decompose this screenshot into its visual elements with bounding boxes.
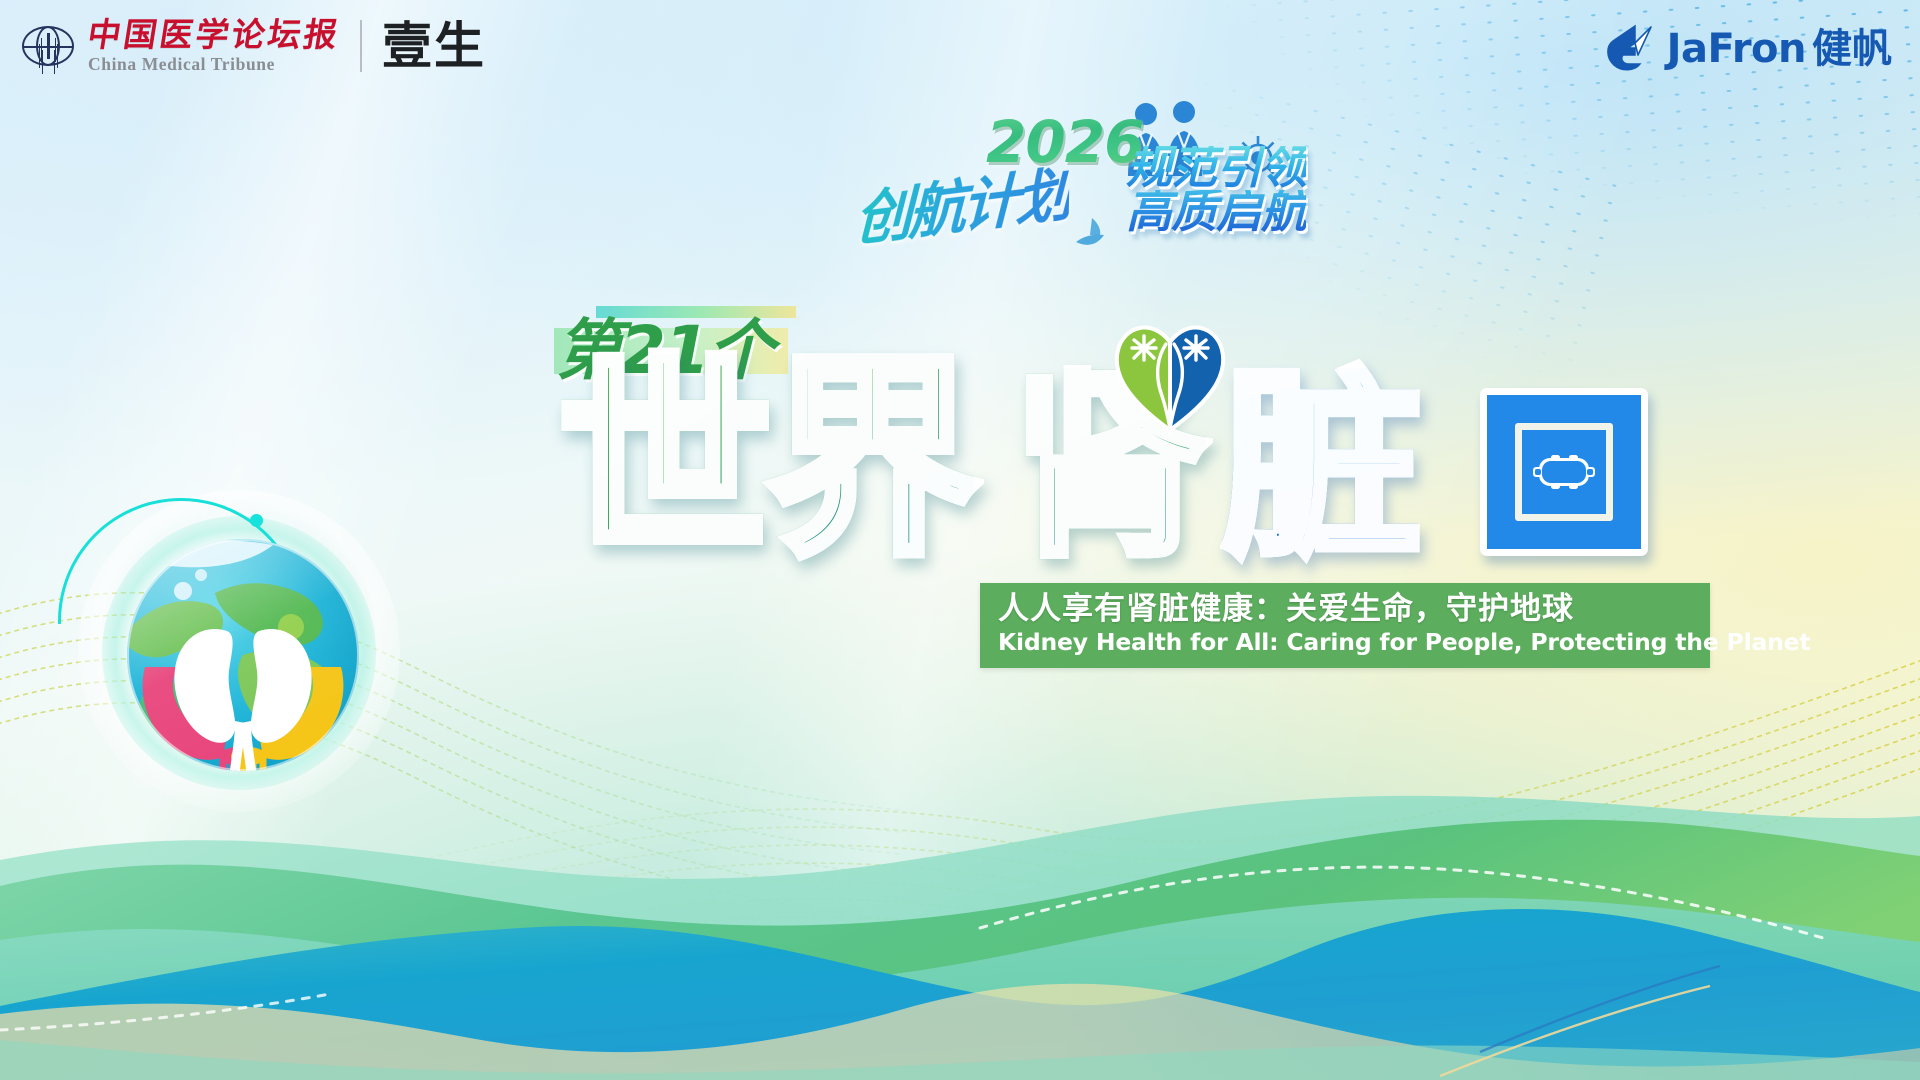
china-medical-tribune-logo[interactable]: 中国医学论坛报 China Medical Tribune 壹生 (22, 18, 486, 74)
sailboat-icon (1070, 212, 1110, 252)
program-slogan-line-2: 高质启航 (1126, 190, 1306, 232)
dialyzer-cartridge-icon (1531, 452, 1597, 492)
cmt-chinese-name: 中国医学论坛报 (85, 18, 342, 51)
main-title: 世界 肾 脏 (540, 330, 1860, 600)
earth-globe-icon (123, 535, 363, 775)
program-slogan: 规范引领 高质启航 (1126, 146, 1306, 233)
globe-orbit-dot (250, 514, 263, 527)
logo-divider (360, 20, 362, 72)
yisheng-sub-brand: 壹生 (382, 21, 486, 71)
dialyzer-day-icon (1480, 388, 1648, 556)
jafron-name-cn: 健帆 (1812, 29, 1892, 69)
program-year: 2026 (986, 108, 1143, 176)
dialyzer-day-inner-frame (1515, 423, 1613, 521)
program-slogan-line-1: 规范引领 (1126, 146, 1306, 188)
tagline-english: Kidney Health for All: Caring for People… (998, 629, 1694, 657)
poster-canvas: 中国医学论坛报 China Medical Tribune 壹生 JaFron … (0, 0, 1920, 1080)
tagline-banner: 人人享有肾脏健康：关爱生命，守护地球 Kidney Health for All… (980, 583, 1710, 668)
cmt-globe-icon (22, 26, 74, 66)
jafron-sail-icon (1605, 24, 1661, 74)
title-shijie: 世界 (558, 354, 974, 568)
jafron-logo[interactable]: JaFron 健帆 (1605, 24, 1892, 74)
jafron-name-en: JaFron (1667, 29, 1806, 69)
program-lockup: 创航计划 2026 规范引领 高质启航 (880, 108, 1330, 268)
globe-kidneys-hands-icon (60, 480, 420, 840)
cmt-wordmark: 中国医学论坛报 China Medical Tribune (88, 18, 340, 74)
cmt-english-name: China Medical Tribune (88, 56, 340, 74)
title-zang: 脏 (1222, 368, 1418, 568)
kidney-heart-icon (1108, 312, 1232, 436)
tagline-chinese: 人人享有肾脏健康：关爱生命，守护地球 (998, 592, 1694, 627)
